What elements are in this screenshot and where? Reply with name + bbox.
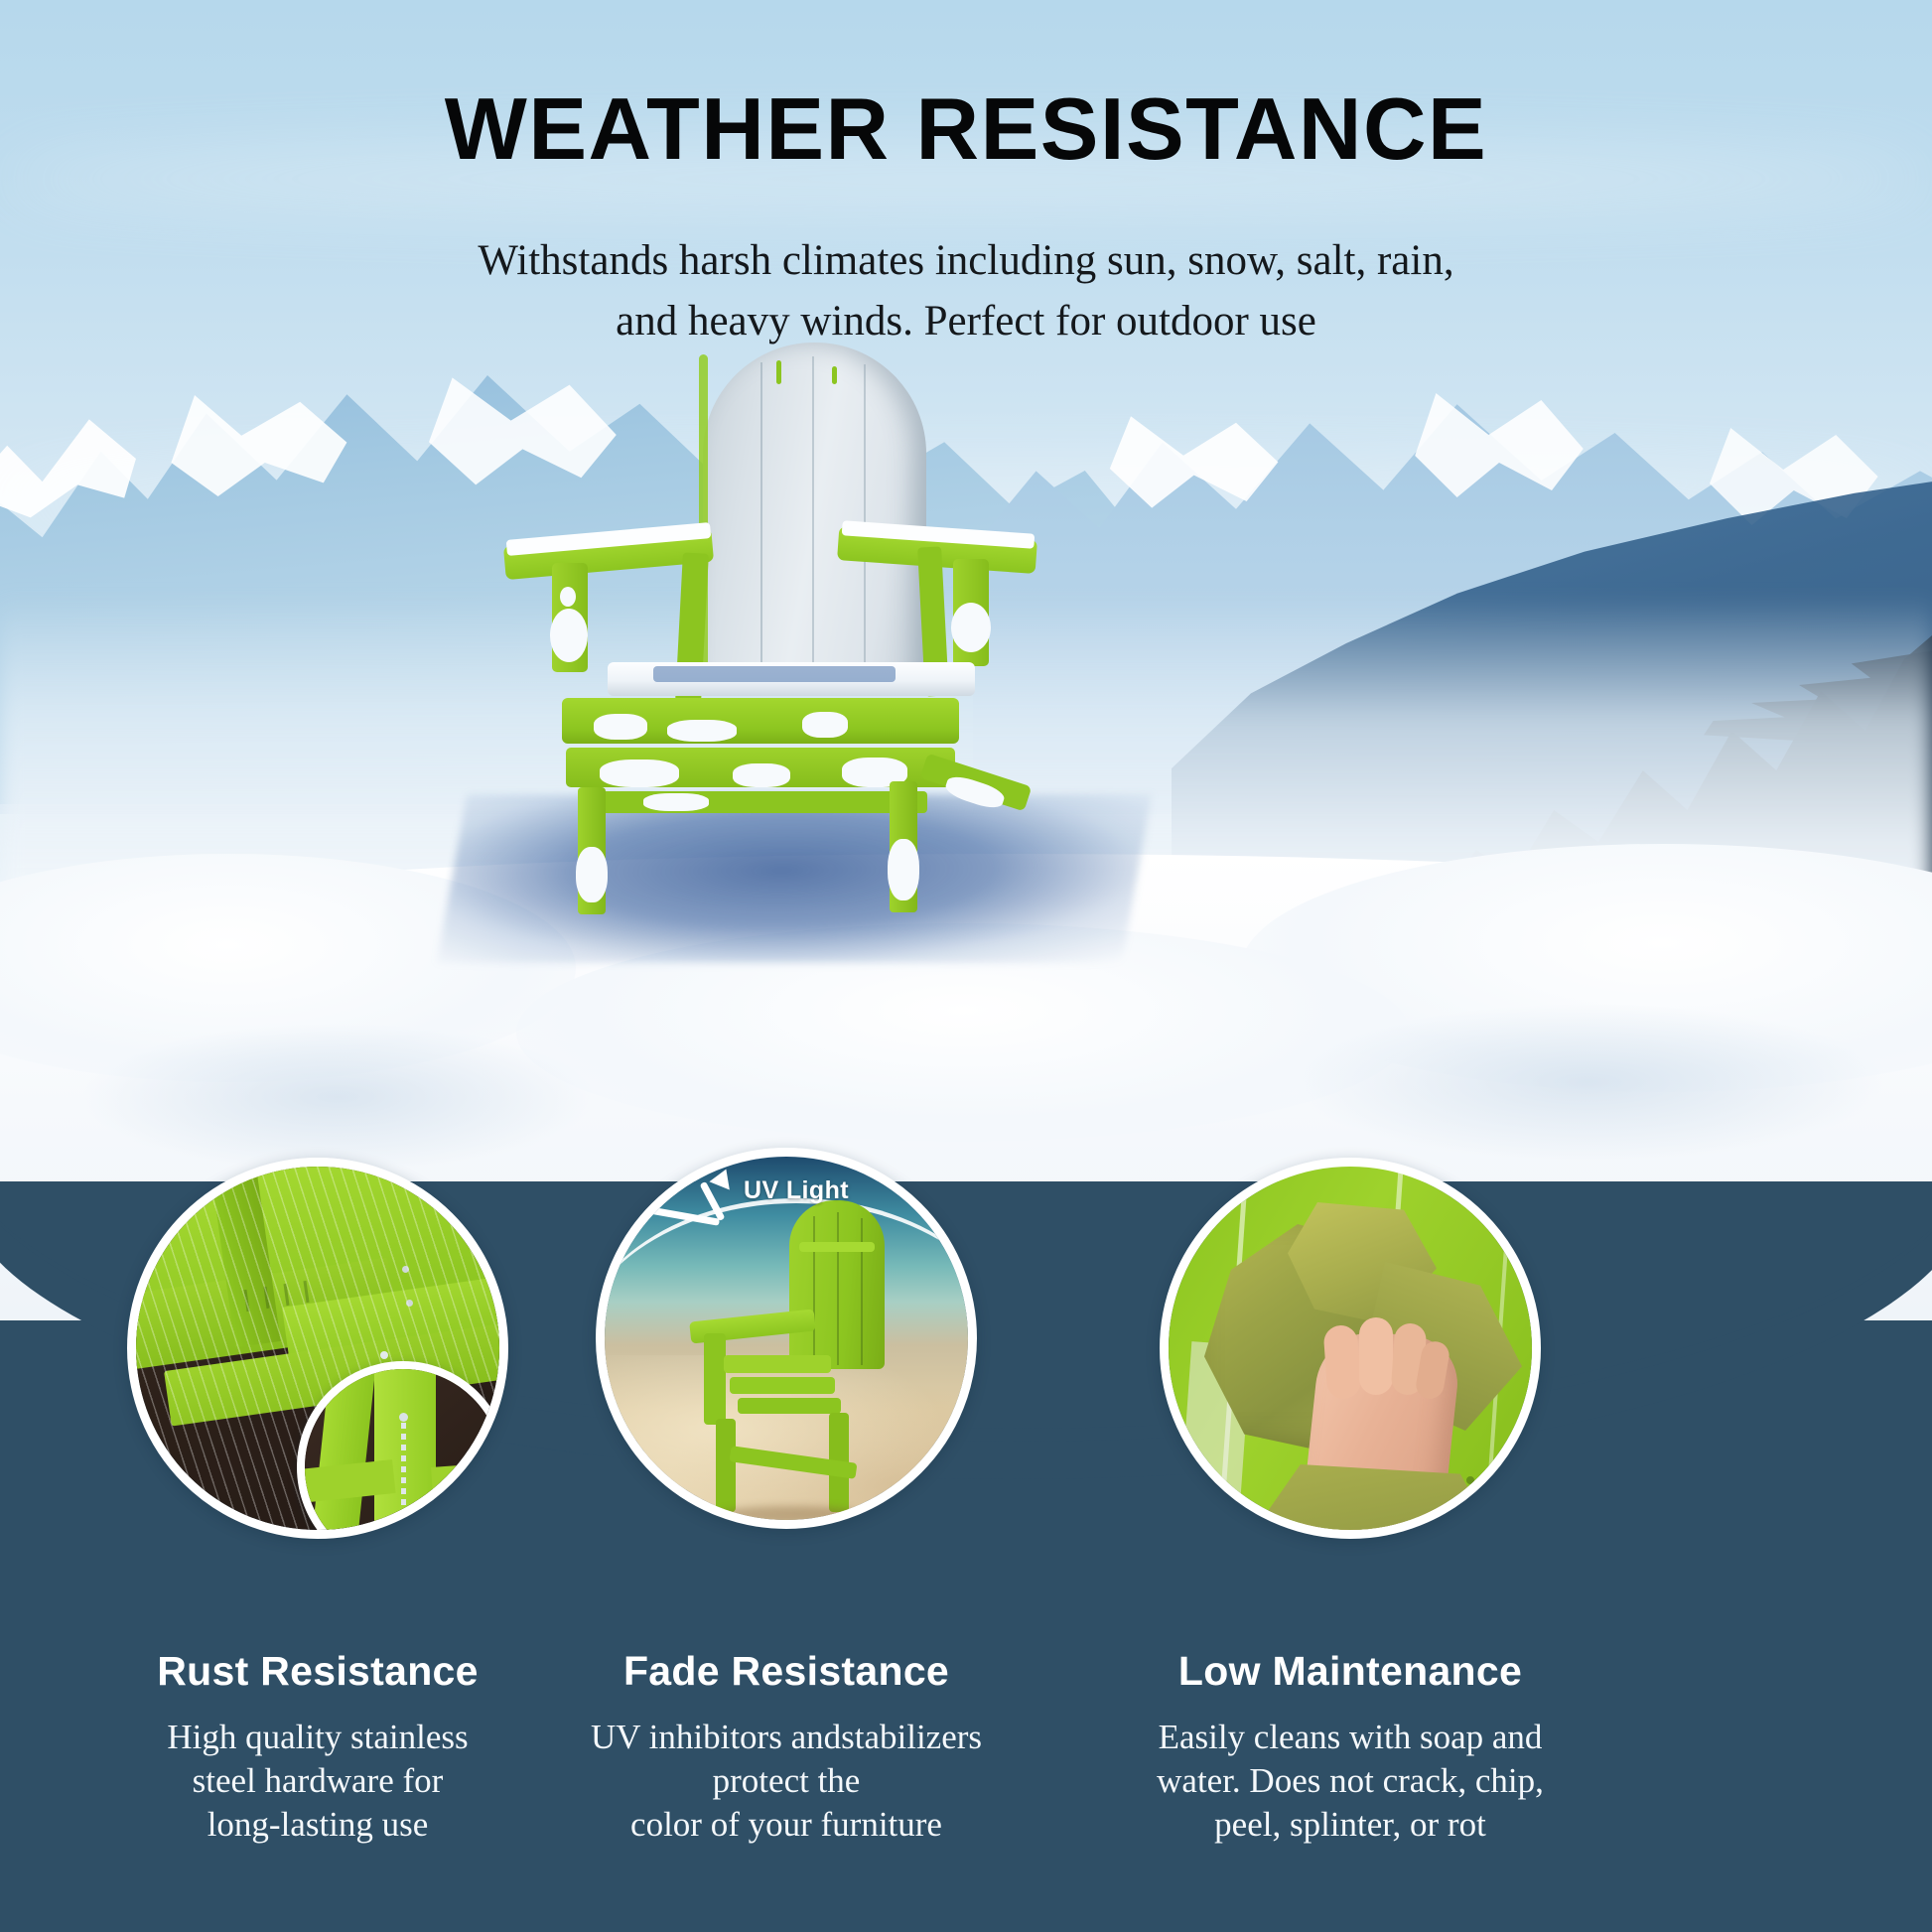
feature-desc-line: water. Does not crack, chip,	[1117, 1759, 1584, 1803]
finger	[1359, 1317, 1393, 1395]
feature-image-rust-resistance	[127, 1158, 508, 1539]
feature-title-fade-resistance: Fade Resistance	[578, 1648, 995, 1695]
cloth-lower-fold	[1264, 1464, 1492, 1539]
snow-patch	[667, 720, 737, 742]
snow-patch	[594, 714, 647, 740]
beach-chair-seam	[837, 1212, 839, 1365]
feature-desc-low-maintenance: Easily cleans with soap and water. Does …	[1117, 1716, 1584, 1847]
snow-patch	[550, 609, 588, 662]
feature-desc-rust-resistance: High quality stainless steel hardware fo…	[84, 1716, 551, 1847]
feature-desc-line: long-lasting use	[84, 1803, 551, 1847]
snow-patch	[560, 587, 576, 607]
snow-patch	[733, 763, 790, 787]
snow-shading	[1291, 1003, 1886, 1162]
backrest-seam	[760, 362, 762, 680]
snow-patch	[888, 839, 919, 900]
inset-chair-rail	[431, 1461, 508, 1499]
beach-chair-leg	[716, 1419, 736, 1512]
snow-patch	[802, 712, 848, 738]
seat-shadow	[653, 666, 896, 682]
feature-desc-line: protect the	[553, 1759, 1020, 1803]
snow-patch	[951, 603, 991, 652]
chair-backrest	[703, 343, 926, 690]
feature-desc-fade-resistance: UV inhibitors andstabilizers protect the…	[553, 1716, 1020, 1847]
beach-chair-seam	[813, 1216, 815, 1365]
feature-desc-line: Easily cleans with soap and	[1117, 1716, 1584, 1759]
feature-desc-line: steel hardware for	[84, 1759, 551, 1803]
infographic-stage: WEATHER RESISTANCE Withstands harsh clim…	[0, 0, 1932, 1932]
chain-ring	[398, 1518, 408, 1528]
feature-desc-line: peel, splinter, or rot	[1117, 1803, 1584, 1847]
feature-title-rust-resistance: Rust Resistance	[109, 1648, 526, 1695]
uv-light-label: UV Light	[744, 1176, 849, 1205]
beach-chair-seat-slat	[730, 1377, 835, 1394]
feature-image-fade-resistance: UV Light	[596, 1148, 977, 1529]
backrest-green-notch	[776, 360, 781, 384]
beach-chair-seat-slat	[724, 1355, 831, 1373]
feature-inset-hardware	[297, 1361, 508, 1539]
beach-chair-seat-slat	[738, 1398, 841, 1414]
feature-desc-line: High quality stainless	[84, 1716, 551, 1759]
chain-links	[401, 1423, 406, 1532]
backrest-green-notch	[832, 366, 837, 384]
feature-desc-line: UV inhibitors andstabilizers	[553, 1716, 1020, 1759]
subtitle-line-1: Withstands harsh climates including sun,…	[0, 230, 1932, 291]
feature-image-low-maintenance	[1160, 1158, 1541, 1539]
beach-chair-arm-support	[704, 1333, 726, 1425]
subtitle-line-2: and heavy winds. Perfect for outdoor use	[0, 291, 1932, 351]
hero-chair	[504, 343, 1040, 898]
backrest-seam	[812, 356, 814, 680]
beach-chair-seam	[861, 1218, 863, 1365]
page-subtitle: Withstands harsh climates including sun,…	[0, 230, 1932, 351]
chain-anchor	[399, 1413, 408, 1422]
finger	[1322, 1324, 1361, 1400]
page-title: WEATHER RESISTANCE	[0, 85, 1932, 173]
feature-desc-line: color of your furniture	[553, 1803, 1020, 1847]
snow-patch	[600, 759, 679, 787]
feature-title-low-maintenance: Low Maintenance	[1142, 1648, 1559, 1695]
screw	[1466, 1476, 1474, 1484]
beach-chair-headrest	[799, 1242, 875, 1252]
snow-patch	[643, 793, 709, 811]
snow-patch	[576, 847, 608, 902]
